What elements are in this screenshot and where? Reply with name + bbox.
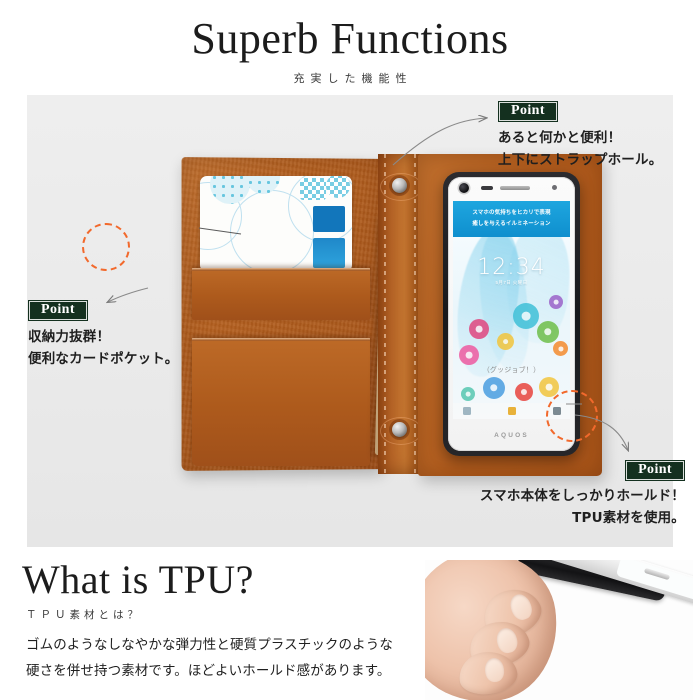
- lockscreen-time: 12:34: [453, 255, 570, 280]
- tpu-edge-highlight-circle: [546, 390, 598, 442]
- wallpaper-flower: [513, 303, 539, 329]
- strap-hole-top-icon: [392, 178, 407, 193]
- tpu-subtitle: ＴＰＵ素材とは？: [26, 607, 142, 622]
- screen-banner: スマホの気持ちをヒカリで表現 癒しを与えるイルミネーション: [453, 201, 570, 237]
- wallpaper-flower: [459, 345, 479, 365]
- page-subtitle: 充実した機能性: [288, 70, 413, 86]
- screen-caption: （グッジョブ！）: [453, 365, 570, 375]
- tpu-body-text: ゴムのようなしなやかな弾力性と硬質プラスチックのような 硬さを併せ持つ素材です。…: [26, 632, 436, 684]
- earpiece-speaker-icon: [500, 186, 530, 190]
- card-check-patch: [300, 178, 326, 200]
- wallpaper-flower: [553, 341, 568, 356]
- tpu-title: What is TPU?: [22, 560, 254, 600]
- point-badge: Point: [625, 460, 685, 481]
- phone-brand-label: AQUOS: [494, 432, 529, 439]
- pocket-lip: [192, 268, 370, 271]
- pocket-lip: [192, 338, 370, 341]
- callout-line: スマホ本体をしっかりホールド！: [440, 485, 685, 507]
- tpu-explainer-section: What is TPU? ＴＰＵ素材とは？ ゴムのようなしなやかな弾力性と硬質プ…: [0, 556, 700, 700]
- callout-line: 便利なカードポケット。: [28, 348, 178, 370]
- phone-dialer-icon[interactable]: [463, 407, 471, 415]
- point-badge-wrap: Point: [498, 101, 662, 122]
- card-pocket-lower: [192, 338, 370, 466]
- wallpaper-flower: [497, 333, 514, 350]
- callout-line: 収納力抜群！: [28, 326, 178, 348]
- callout-card-pocket: Point 収納力抜群！ 便利なカードポケット。: [28, 300, 178, 370]
- strap-hole-bottom-icon: [392, 422, 407, 437]
- wallpaper-flower: [515, 383, 533, 401]
- card-pocket-upper: [192, 268, 370, 320]
- page-header: Superb Functions 充実した機能性: [0, 0, 700, 95]
- card-blue-square: [313, 238, 345, 268]
- point-badge-wrap: Point: [440, 460, 685, 481]
- lock-icon[interactable]: [508, 407, 516, 415]
- lockscreen-date: 5月7日 火曜日: [453, 280, 570, 286]
- wallet-case-photo: スマホの気持ちをヒカリで表現 癒しを与えるイルミネーション: [182, 150, 602, 480]
- wallpaper-flower: [549, 295, 563, 309]
- front-camera-icon: [459, 183, 469, 193]
- page-title: Superb Functions: [191, 17, 508, 61]
- point-badge: Point: [28, 300, 88, 321]
- proximity-sensor-icon: [481, 186, 493, 190]
- wallpaper-flower: [461, 387, 475, 401]
- callout-line: 上下にストラップホール。: [498, 149, 662, 171]
- hand-flex-demo-photo: [425, 560, 693, 700]
- wallpaper-flower: [483, 377, 505, 399]
- banner-line-1: スマホの気持ちをヒカリで表現: [453, 208, 570, 219]
- point-badge-wrap: Point: [28, 300, 178, 321]
- product-feature-page: Superb Functions 充実した機能性: [0, 0, 700, 700]
- callout-line: TPU素材を使用。: [440, 507, 685, 529]
- tpu-body-line-2: 硬さを併せ持つ素材です。ほどよいホールド感があります。: [26, 658, 436, 684]
- card-pocket-highlight-circle: [82, 223, 130, 271]
- callout-tpu-hold: Point スマホ本体をしっかりホールド！ TPU素材を使用。: [440, 460, 685, 529]
- tpu-body-line-1: ゴムのようなしなやかな弾力性と硬質プラスチックのような: [26, 632, 436, 658]
- callout-line: あると何かと便利！: [498, 127, 662, 149]
- phone-screen[interactable]: スマホの気持ちをヒカリで表現 癒しを与えるイルミネーション: [453, 201, 570, 419]
- card-blue-square: [313, 206, 345, 232]
- callout-strap-hole: Point あると何かと便利！ 上下にストラップホール。: [498, 101, 662, 171]
- wallpaper-flower: [537, 321, 559, 343]
- phone-top-bezel: [448, 177, 575, 199]
- patterned-card: [200, 176, 352, 272]
- notification-led-icon: [552, 185, 557, 190]
- wallpaper-flower: [469, 319, 489, 339]
- point-badge: Point: [498, 101, 558, 122]
- banner-line-2: 癒しを与えるイルミネーション: [453, 219, 570, 230]
